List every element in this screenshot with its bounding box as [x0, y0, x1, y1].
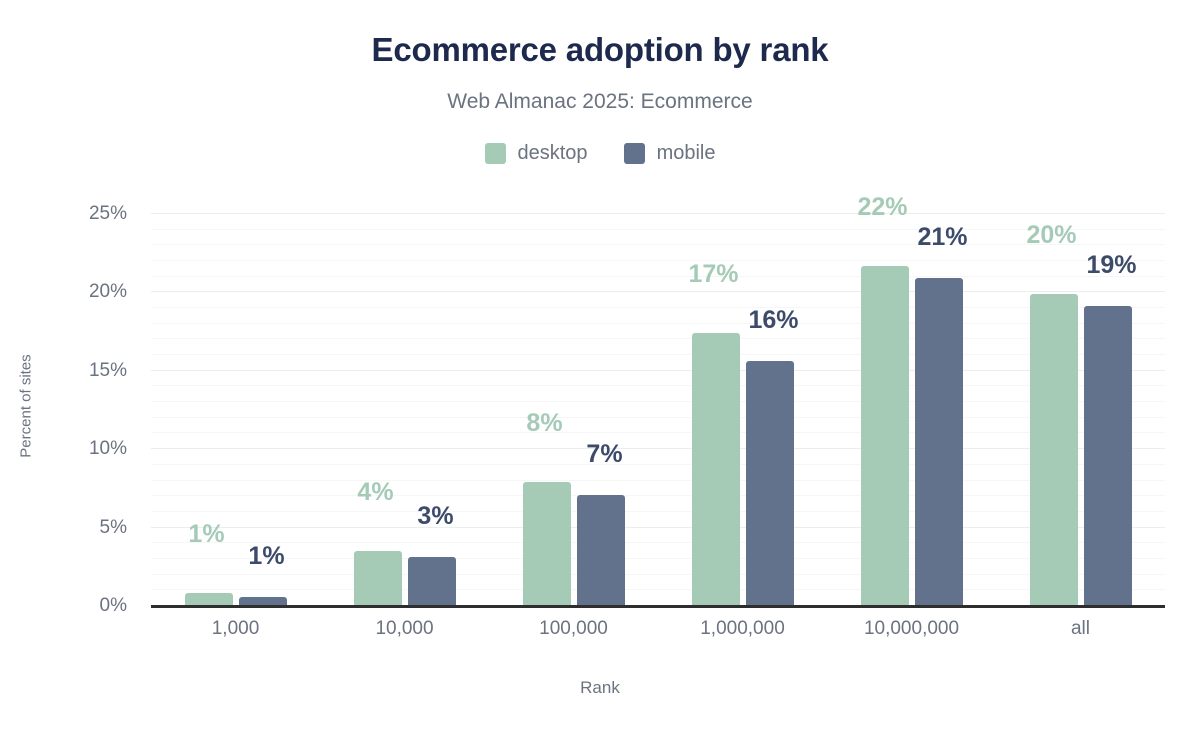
y-tick-label: 0% [100, 595, 127, 617]
bar-value-label-desktop-10000: 4% [357, 478, 393, 507]
x-axis-ticks: 1,00010,000100,0001,000,00010,000,000all [151, 618, 1165, 648]
bar-value-label-mobile-10000: 3% [417, 502, 453, 531]
x-tick-label: 1,000 [212, 618, 260, 640]
bar-desktop-100000[interactable] [523, 482, 571, 606]
y-axis-ticks: 0%5%10%15%20%25% [0, 206, 141, 606]
legend-swatch-mobile [624, 143, 645, 164]
bar-value-label-mobile-all: 19% [1086, 251, 1136, 280]
x-tick-label: 1,000,000 [700, 618, 785, 640]
chart-title: Ecommerce adoption by rank [0, 31, 1200, 69]
chart-subtitle: Web Almanac 2025: Ecommerce [0, 90, 1200, 114]
y-tick-label: 15% [89, 360, 127, 382]
x-axis-title: Rank [0, 678, 1200, 698]
x-tick-label: all [1071, 618, 1090, 640]
bars-layer: 1%1%4%3%8%7%17%16%22%21%20%19% [151, 206, 1165, 606]
plot-area: 1%1%4%3%8%7%17%16%22%21%20%19% [151, 206, 1165, 606]
legend-item-mobile[interactable]: mobile [624, 142, 716, 165]
x-tick-label: 100,000 [539, 618, 608, 640]
bar-desktop-1000000[interactable] [692, 333, 740, 606]
x-tick-label: 10,000,000 [864, 618, 959, 640]
y-tick-label: 20% [89, 281, 127, 303]
bar-desktop-10000[interactable] [354, 551, 402, 606]
bar-value-label-mobile-100000: 7% [586, 440, 622, 469]
legend-label-desktop: desktop [518, 142, 588, 165]
bar-value-label-mobile-1000000: 16% [748, 306, 798, 335]
y-tick-label: 25% [89, 203, 127, 225]
bar-chart: Ecommerce adoption by rank Web Almanac 2… [0, 0, 1200, 742]
bar-value-label-desktop-1000: 1% [188, 520, 224, 549]
chart-legend: desktopmobile [0, 142, 1200, 165]
bar-value-label-mobile-1000: 1% [248, 542, 284, 571]
bar-value-label-desktop-1000000: 17% [688, 260, 738, 289]
bar-mobile-10000[interactable] [408, 557, 456, 606]
bar-value-label-mobile-10000000: 21% [917, 223, 967, 252]
bar-value-label-desktop-all: 20% [1026, 221, 1076, 250]
bar-mobile-100000[interactable] [577, 495, 625, 606]
y-tick-label: 5% [100, 517, 127, 539]
bar-desktop-all[interactable] [1030, 294, 1078, 606]
bar-mobile-10000000[interactable] [915, 278, 963, 606]
x-tick-label: 10,000 [375, 618, 433, 640]
x-axis-line [151, 605, 1165, 608]
y-tick-label: 10% [89, 438, 127, 460]
bar-mobile-all[interactable] [1084, 306, 1132, 606]
bar-mobile-1000000[interactable] [746, 361, 794, 606]
legend-item-desktop[interactable]: desktop [485, 142, 588, 165]
legend-label-mobile: mobile [657, 142, 716, 165]
legend-swatch-desktop [485, 143, 506, 164]
bar-value-label-desktop-10000000: 22% [857, 193, 907, 222]
bar-value-label-desktop-100000: 8% [526, 409, 562, 438]
bar-desktop-10000000[interactable] [861, 266, 909, 606]
